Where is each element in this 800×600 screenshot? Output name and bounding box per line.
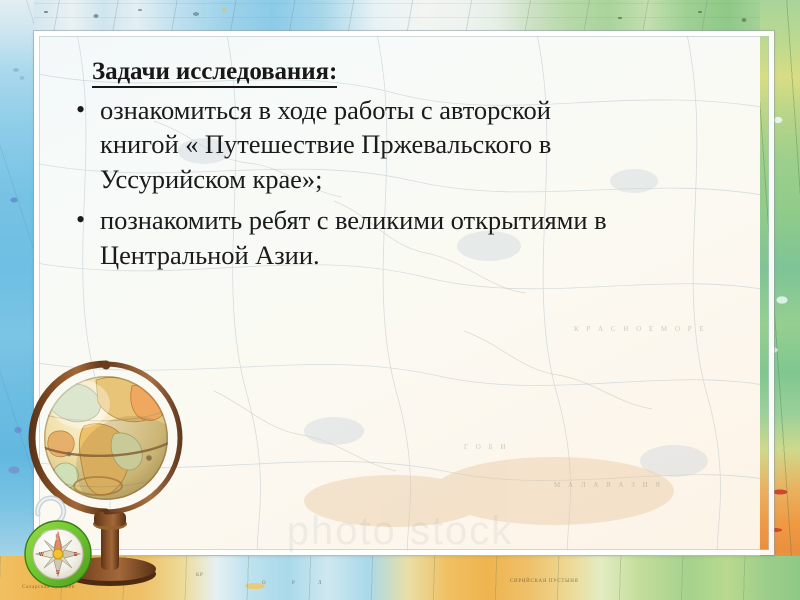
map-label-syrian-desert: СИРИЙСКАЯ ПУСТЫНЯ: [510, 579, 579, 584]
map-label-o: О: [262, 581, 266, 586]
bullet-marker-icon: •: [76, 203, 85, 237]
compass-icon: N E S W: [25, 498, 91, 587]
list-item: • ознакомиться в ходе работы с авторской…: [62, 93, 620, 198]
globe-illustration: N E S W: [14, 346, 194, 596]
svg-text:W: W: [39, 552, 44, 558]
map-label-kr: КР: [196, 573, 204, 578]
globe-svg: N E S W: [14, 346, 194, 596]
page-title-text: Задачи исследования:: [92, 58, 337, 88]
map-band-top-detail: [0, 0, 800, 32]
bullet-marker-icon: •: [76, 93, 85, 127]
list-item: • познакомить ребят с великими открытиям…: [62, 203, 620, 273]
slide-root: Г О Б И М А Л А Я А З И Я К Р А С Н О Е …: [0, 0, 800, 600]
map-label-r: Р: [292, 581, 295, 586]
objectives-list: • ознакомиться в ходе работы с авторской…: [62, 93, 744, 274]
page-title: Задачи исследования:: [62, 57, 744, 87]
list-item-text: ознакомиться в ходе работы с авторской к…: [100, 95, 551, 195]
map-label-l: Л: [318, 581, 322, 586]
list-item-text: познакомить ребят с великими открытиями …: [100, 205, 607, 270]
